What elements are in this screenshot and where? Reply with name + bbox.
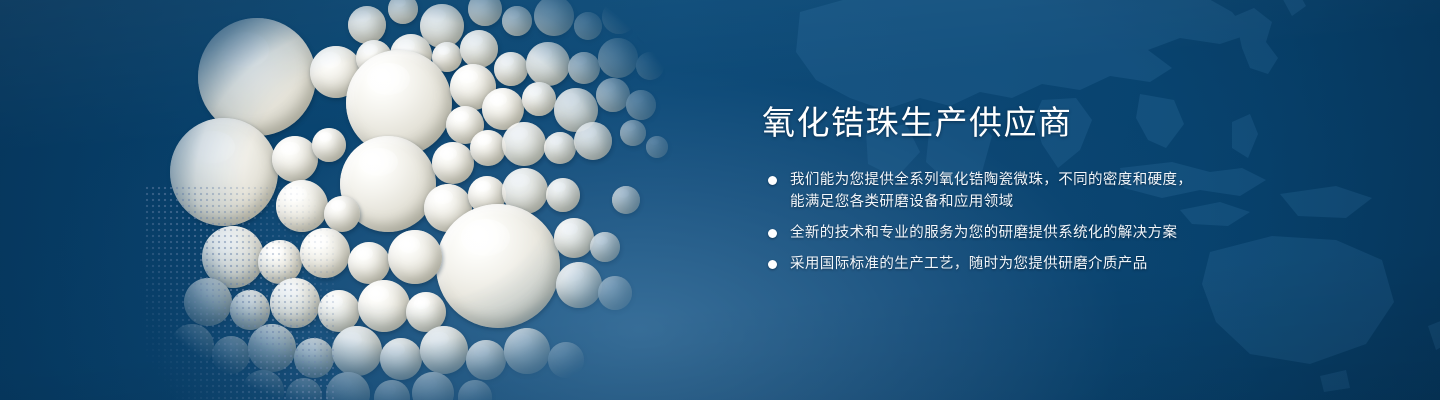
hero-copy: 氧化锆珠生产供应商 我们能为您提供全系列氧化锆陶瓷微珠，不同的密度和硬度， 能满… <box>762 104 1322 275</box>
bullet-dot-icon <box>768 229 777 238</box>
bullet-text-line: 采用国际标准的生产工艺，随时为您提供研磨介质产品 <box>790 253 1322 275</box>
list-item: 采用国际标准的生产工艺，随时为您提供研磨介质产品 <box>762 253 1322 275</box>
bullet-text-line: 能满足您各类研磨设备和应用领域 <box>790 191 1322 213</box>
hero-banner: 氧化锆珠生产供应商 我们能为您提供全系列氧化锆陶瓷微珠，不同的密度和硬度， 能满… <box>0 0 1440 400</box>
feature-bullet-list: 我们能为您提供全系列氧化锆陶瓷微珠，不同的密度和硬度， 能满足您各类研磨设备和应… <box>762 169 1322 275</box>
bullet-text-line: 我们能为您提供全系列氧化锆陶瓷微珠，不同的密度和硬度， <box>790 169 1322 191</box>
list-item: 全新的技术和专业的服务为您的研磨提供系统化的解决方案 <box>762 222 1322 244</box>
bullet-dot-icon <box>768 176 777 185</box>
list-item: 我们能为您提供全系列氧化锆陶瓷微珠，不同的密度和硬度， 能满足您各类研磨设备和应… <box>762 169 1322 213</box>
bullet-text-line: 全新的技术和专业的服务为您的研磨提供系统化的解决方案 <box>790 222 1322 244</box>
page-title: 氧化锆珠生产供应商 <box>762 104 1322 143</box>
bullet-dot-icon <box>768 260 777 269</box>
